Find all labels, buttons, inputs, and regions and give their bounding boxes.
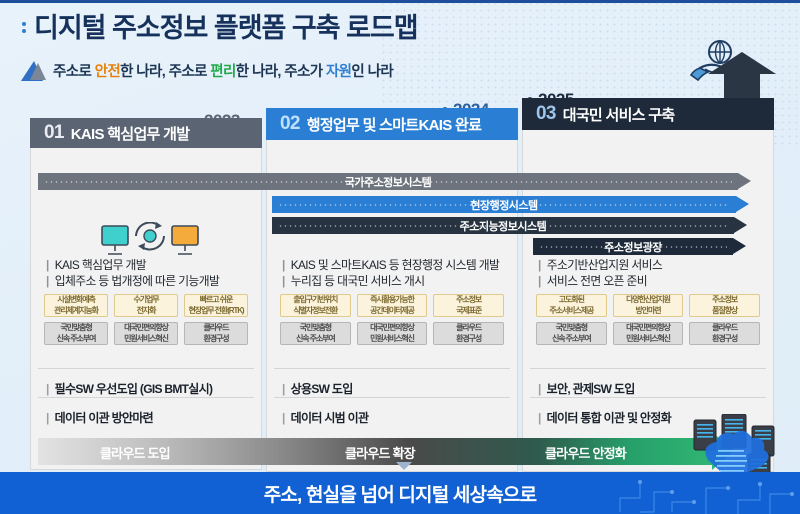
tag-item: 다양한산업지원방안마련 [613, 294, 684, 317]
system-bar-address-plaza: 주소정보광장 [533, 238, 733, 255]
tag-item: 주소정보품질향상 [689, 294, 760, 317]
tag-item: 대국민편의향상민원서비스혁신 [357, 322, 428, 345]
tag-line-1: 국민맞춤형 [300, 323, 331, 334]
phase-header-3: 03 대국민 서비스 구축 [522, 98, 774, 130]
bullet-text: 누리집 등 대국민 서비스 개시 [291, 273, 425, 289]
bullet-marker: | [282, 257, 285, 273]
cloud-stage-label-3: 클라우드 안정화 [545, 443, 626, 462]
tag-line-1: 국민맞춤형 [60, 323, 91, 334]
bullet-text: KAIS 및 스마트KAIS 등 현장행정 시스템 개발 [291, 257, 500, 273]
tag-item: 국민맞춤형신속 주소부여 [280, 322, 351, 345]
tag-item: 클라우드환경구성 [433, 322, 504, 345]
phase-title: 대국민 서비스 구축 [563, 104, 675, 125]
tag-item: 즉시활용가능한공간데이터제공 [357, 294, 428, 317]
phase-2-tags: 출입구기반위치식별자정보전환 즉시활용가능한공간데이터제공 주소정보국제표준 국… [280, 294, 504, 345]
system-bar-label: 주소지능정보시스템 [452, 218, 555, 234]
tag-item: 클라우드환경구성 [184, 322, 248, 345]
phase-3-data-row: |데이터 통합 이관 및 안정화 [538, 409, 671, 426]
pc-sync-icon [100, 222, 200, 262]
tag-line-1: 클라우드 [712, 323, 737, 334]
arrow-tip-icon [733, 238, 746, 254]
bullet-marker: | [538, 382, 541, 396]
bullet-item: |누리집 등 대국민 서비스 개시 [282, 273, 499, 289]
tag-item: 대국민편의향상민원서비스혁신 [613, 322, 684, 345]
phase-3-sw-row: |보안, 관제SW 도입 [538, 380, 635, 397]
arrow-tip-icon [736, 196, 749, 212]
bullet-marker: | [282, 411, 285, 425]
tag-item: 시설변화예측관리체계지능화 [44, 294, 108, 317]
system-bar-label: 주소정보광장 [596, 239, 670, 255]
colon-dots-icon [22, 18, 26, 33]
tag-line-2: 민원서비스혁신 [124, 334, 168, 345]
tag-line-2: 현장업무 전환(RTK) [189, 306, 244, 317]
bullet-marker: | [282, 382, 285, 396]
tag-item: 대국민편의향상민원서비스혁신 [114, 322, 178, 345]
phase-title: KAIS 핵심업무 개발 [71, 123, 190, 144]
tag-line-2: 품질향상 [712, 306, 737, 317]
phase-header-2: 02 행정업무 및 스마트KAIS 완료 [266, 108, 518, 140]
slogan: 주소로 안전한 나라, 주소로 편리한 나라, 주소가 자원인 나라 [22, 60, 393, 81]
tag-item: 클라우드환경구성 [689, 322, 760, 345]
phase-3-bullets: |주소기반산업지원 서비스 |서비스 전면 오픈 준비 [538, 257, 662, 289]
tag-line-2: 전자화 [137, 306, 156, 317]
tag-line-1: 대국민편의향상 [124, 323, 168, 334]
bullet-item: |KAIS 핵심업무 개발 [46, 257, 219, 273]
tag-line-2: 환경구성 [203, 334, 228, 345]
phase-1-bullets: |KAIS 핵심업무 개발 |입체주소 등 법개정에 따른 기능개발 [46, 257, 219, 289]
tag-line-2: 환경구성 [712, 334, 737, 345]
sw-text: 필수SW 우선도입 (GIS BMT실시) [55, 380, 213, 397]
system-bar-address-ai: 주소지능정보시스템 [272, 217, 734, 234]
sw-text: 보안, 관제SW 도입 [547, 380, 635, 397]
tag-line-2: 신속 주소부여 [296, 334, 335, 345]
bullet-marker: | [538, 411, 541, 425]
phase-3-tags: 고도화된주소서비스제공 다양한산업지원방안마련 주소정보품질향상 국민맞춤형신속… [536, 294, 760, 345]
brand-logo-icon [22, 61, 44, 81]
divider [530, 368, 766, 369]
footer-text: 주소, 현실을 넘어 디지털 세상속으로 [264, 480, 537, 507]
phase-2-sw-row: |상용SW 도입 [282, 380, 353, 397]
page-title: 디지털 주소정보 플랫폼 구축 로드맵 [22, 6, 418, 45]
tag-item: 출입구기반위치식별자정보전환 [280, 294, 351, 317]
footer-banner: 주소, 현실을 넘어 디지털 세상속으로 [0, 472, 800, 514]
page-title-text: 디지털 주소정보 플랫폼 구축 로드맵 [34, 6, 418, 45]
phase-title: 행정업무 및 스마트KAIS 완료 [307, 114, 481, 135]
tag-item: 주소정보국제표준 [433, 294, 504, 317]
tag-line-1: 주소정보 [712, 295, 737, 306]
phase-1-sw-row: |필수SW 우선도입 (GIS BMT실시) [46, 380, 212, 397]
phase-number: 02 [280, 113, 300, 135]
tag-line-1: 주소정보 [456, 295, 481, 306]
arrow-tip-icon [734, 217, 747, 233]
data-text: 데이터 시범 이관 [291, 409, 369, 426]
tag-line-2: 환경구성 [456, 334, 481, 345]
tag-line-2: 민원서비스혁신 [626, 334, 670, 345]
data-text: 데이터 이관 방안마련 [55, 409, 153, 426]
divider [274, 397, 510, 398]
phase-number: 01 [44, 122, 64, 144]
bullet-marker: | [282, 273, 285, 289]
data-text: 데이터 통합 이관 및 안정화 [547, 409, 671, 426]
cloud-stage-label-2: 클라우드 확장 [345, 443, 415, 462]
tag-item: 국민맞춤형신속 주소부여 [44, 322, 108, 345]
tag-line-2: 민원서비스혁신 [370, 334, 414, 345]
tag-line-2: 주소서비스제공 [549, 306, 593, 317]
tag-line-2: 공간데이터제공 [370, 306, 414, 317]
bullet-item: |서비스 전면 오픈 준비 [538, 273, 662, 289]
phase-2-data-row: |데이터 시범 이관 [282, 409, 368, 426]
sw-text: 상용SW 도입 [291, 380, 353, 397]
phase-2-bullets: |KAIS 및 스마트KAIS 등 현장행정 시스템 개발 |누리집 등 대국민… [282, 257, 499, 289]
top-accent-bar [0, 0, 800, 3]
bullet-text: 주소기반산업지원 서비스 [547, 257, 662, 273]
tag-line-1: 수기업무 [133, 295, 158, 306]
tag-item: 고도화된주소서비스제공 [536, 294, 607, 317]
arrow-tip-icon [738, 173, 751, 189]
divider [38, 368, 254, 369]
tag-line-1: 대국민편의향상 [370, 323, 414, 334]
tag-line-2: 신속 주소부여 [57, 334, 96, 345]
divider [530, 397, 766, 398]
tag-line-1: 고도화된 [559, 295, 584, 306]
tag-line-1: 출입구기반위치 [293, 295, 337, 306]
bullet-text: 서비스 전면 오픈 준비 [547, 273, 647, 289]
bullet-item: |입체주소 등 법개정에 따른 기능개발 [46, 273, 219, 289]
bullet-item: |주소기반산업지원 서비스 [538, 257, 662, 273]
bullet-marker: | [538, 273, 541, 289]
bullet-text: 입체주소 등 법개정에 따른 기능개발 [55, 273, 220, 289]
tag-item: 수기업무전자화 [114, 294, 178, 317]
bullet-marker: | [46, 273, 49, 289]
system-bar-label: 국가주소정보시스템 [337, 174, 440, 190]
tag-line-1: 즉시활용가능한 [370, 295, 414, 306]
down-caret-icon [396, 462, 412, 470]
system-bar-field-admin: 현장행정시스템 [272, 196, 736, 213]
tag-line-2: 국제표준 [456, 306, 481, 317]
tag-line-1: 시설변화예측 [57, 295, 95, 306]
slogan-text: 주소로 안전한 나라, 주소로 편리한 나라, 주소가 자원인 나라 [53, 60, 393, 81]
circuit-decoration-icon [610, 472, 800, 514]
divider [274, 368, 510, 369]
system-bar-national: 국가주소정보시스템 [38, 173, 738, 190]
tag-line-1: 클라우드 [203, 323, 228, 334]
bullet-marker: | [46, 382, 49, 396]
phase-number: 03 [536, 103, 556, 125]
tag-line-2: 관리체계지능화 [54, 306, 98, 317]
tag-line-2: 식별자정보전환 [293, 306, 337, 317]
tag-line-1: 빠르고 쉬운 [200, 295, 232, 306]
cloud-stage-label-1: 클라우드 도입 [100, 443, 170, 462]
tag-line-1: 국민맞춤형 [556, 323, 587, 334]
system-bar-label: 현장행정시스템 [462, 197, 545, 213]
tag-line-2: 신속 주소부여 [552, 334, 591, 345]
tag-item: 국민맞춤형신속 주소부여 [536, 322, 607, 345]
phase-header-1: 01 KAIS 핵심업무 개발 [30, 118, 262, 148]
phase-1-data-row: |데이터 이관 방안마련 [46, 409, 153, 426]
divider [38, 397, 254, 398]
tag-item: 빠르고 쉬운현장업무 전환(RTK) [184, 294, 248, 317]
tag-line-1: 클라우드 [456, 323, 481, 334]
tag-line-2: 방안마련 [635, 306, 660, 317]
tag-line-1: 대국민편의향상 [626, 323, 670, 334]
bullet-marker: | [46, 411, 49, 425]
slide-root: 디지털 주소정보 플랫폼 구축 로드맵 주소로 안전한 나라, 주소로 편리한 … [0, 0, 800, 514]
tag-line-1: 다양한산업지원 [626, 295, 670, 306]
bullet-marker: | [538, 257, 541, 273]
bullet-text: KAIS 핵심업무 개발 [55, 257, 146, 273]
phase-1-tags: 시설변화예측관리체계지능화 수기업무전자화 빠르고 쉬운현장업무 전환(RTK)… [44, 294, 248, 345]
bullet-item: |KAIS 및 스마트KAIS 등 현장행정 시스템 개발 [282, 257, 499, 273]
bullet-marker: | [46, 257, 49, 273]
